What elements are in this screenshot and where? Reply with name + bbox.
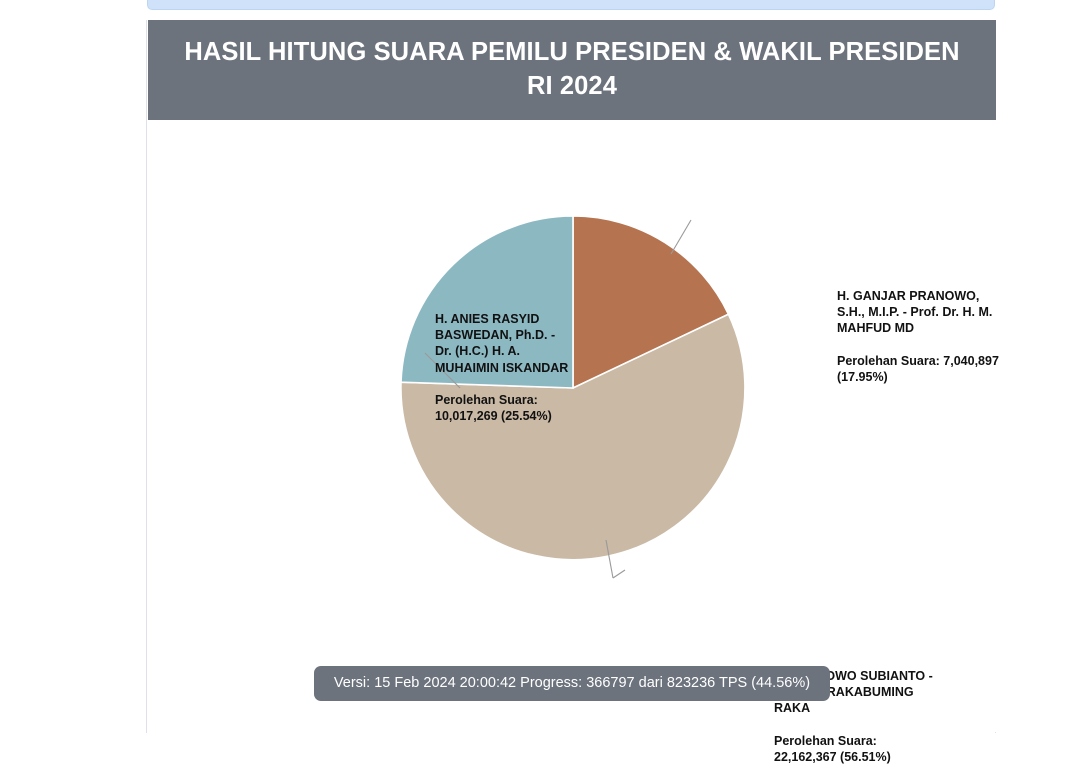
pie-label-anies-name: H. ANIES RASYID BASWEDAN, Ph.D. - Dr. (H… bbox=[435, 311, 570, 376]
pie-label-prabowo-votes: Perolehan Suara: 22,162,367 (56.51%) bbox=[774, 733, 939, 765]
leader-line-prabowo bbox=[613, 570, 625, 578]
pie-label-ganjar: H. GANJAR PRANOWO, S.H., M.I.P. - Prof. … bbox=[837, 272, 1007, 401]
pie-chart: H. ANIES RASYID BASWEDAN, Ph.D. - Dr. (H… bbox=[148, 120, 996, 660]
leader-line-ganjar bbox=[671, 220, 691, 254]
status-badge: Versi: 15 Feb 2024 20:00:42 Progress: 36… bbox=[314, 666, 830, 701]
pie-label-ganjar-name: H. GANJAR PRANOWO, S.H., M.I.P. - Prof. … bbox=[837, 288, 1007, 336]
card-header: HASIL HITUNG SUARA PEMILU PRESIDEN & WAK… bbox=[148, 20, 996, 120]
status-bar: Versi: 15 Feb 2024 20:00:42 Progress: 36… bbox=[148, 666, 996, 701]
pie-label-ganjar-votes: Perolehan Suara: 7,040,897 (17.95%) bbox=[837, 353, 1007, 385]
result-card: HASIL HITUNG SUARA PEMILU PRESIDEN & WAK… bbox=[146, 20, 996, 733]
pie-label-anies-votes: Perolehan Suara: 10,017,269 (25.54%) bbox=[435, 392, 570, 424]
page-title: HASIL HITUNG SUARA PEMILU PRESIDEN & WAK… bbox=[172, 36, 972, 103]
card-body: H. ANIES RASYID BASWEDAN, Ph.D. - Dr. (H… bbox=[148, 120, 996, 732]
top-alert-bar bbox=[147, 0, 995, 10]
pie-label-anies: H. ANIES RASYID BASWEDAN, Ph.D. - Dr. (H… bbox=[435, 295, 570, 440]
